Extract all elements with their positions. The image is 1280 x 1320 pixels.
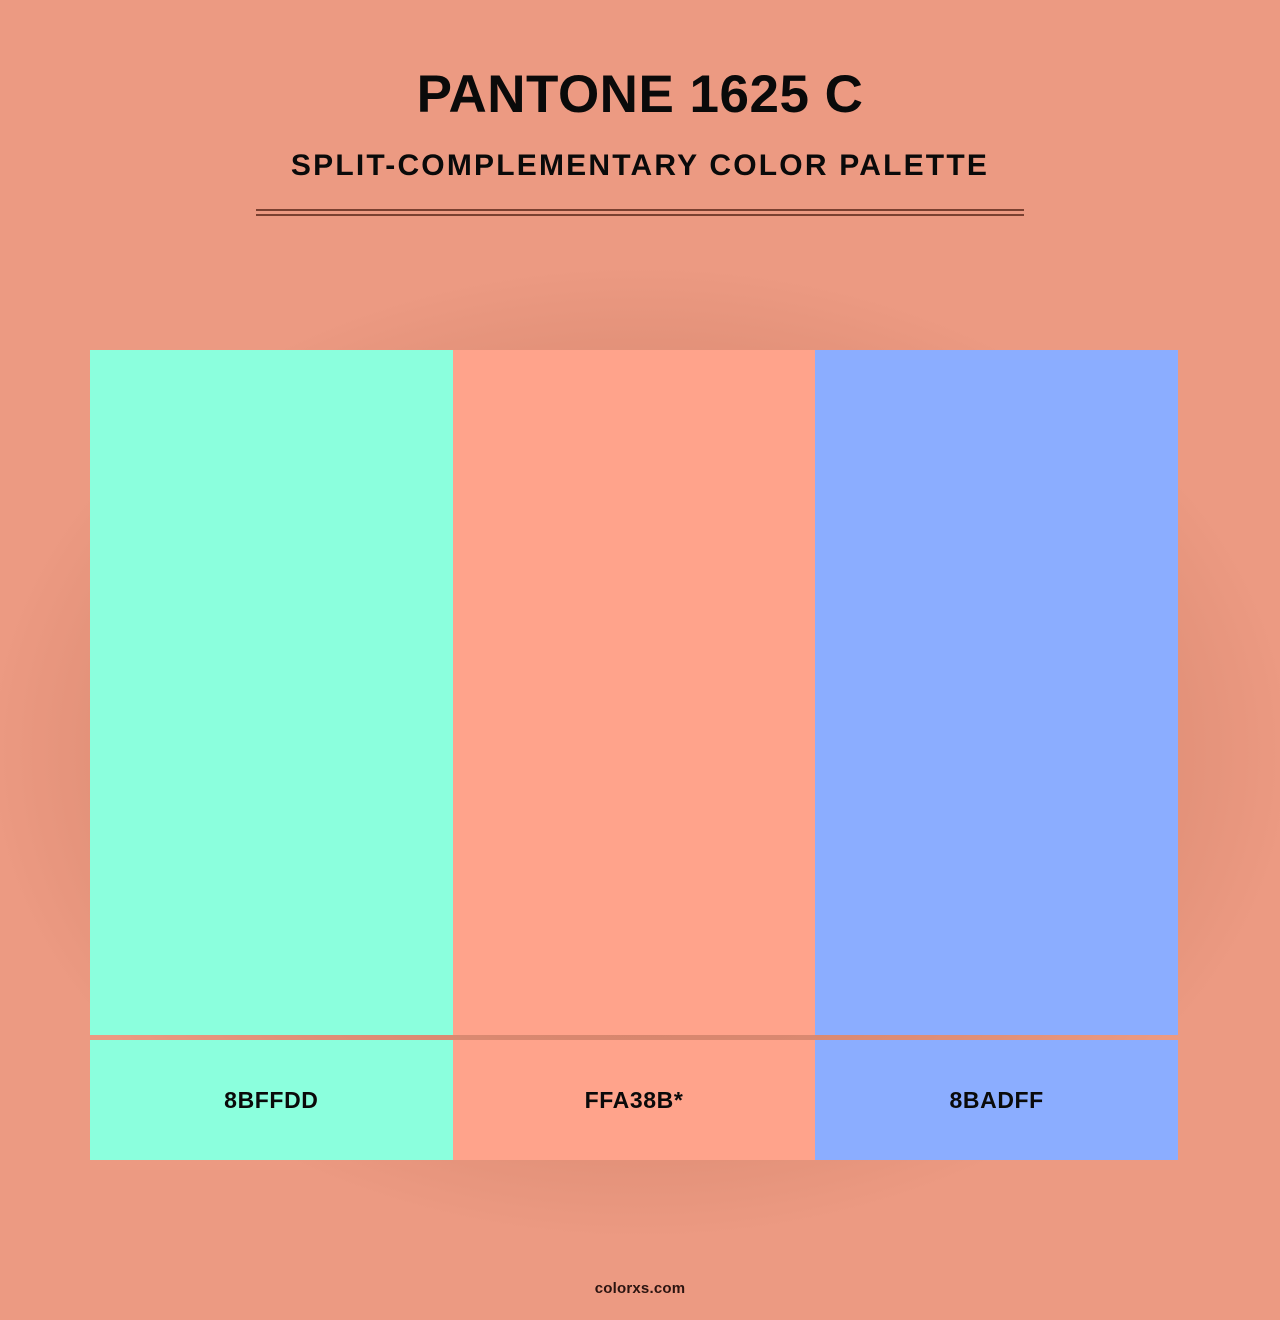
swatch-hex-label: 8BADFF <box>950 1087 1044 1114</box>
page-title: PANTONE 1625 C <box>0 66 1280 123</box>
swatch-column[interactable]: 8BFFDD <box>90 350 453 1160</box>
swatch-color-area[interactable] <box>815 350 1178 1035</box>
header-divider <box>256 209 1024 216</box>
swatch-label-band[interactable]: FFA38B* <box>453 1040 816 1160</box>
color-palette-block: 8BFFDD FFA38B* 8BADFF <box>90 350 1178 1160</box>
page-header: PANTONE 1625 C SPLIT-COMPLEMENTARY COLOR… <box>0 0 1280 216</box>
swatch-label-band[interactable]: 8BFFDD <box>90 1040 453 1160</box>
swatch-color-area[interactable] <box>90 350 453 1035</box>
page-footer: colorxs.com <box>0 1280 1280 1298</box>
swatch-label-band[interactable]: 8BADFF <box>815 1040 1178 1160</box>
swatch-column[interactable]: 8BADFF <box>815 350 1178 1160</box>
site-credit: colorxs.com <box>595 1280 686 1297</box>
swatch-hex-label: FFA38B* <box>585 1087 684 1114</box>
swatch-hex-label: 8BFFDD <box>224 1087 318 1114</box>
swatch-color-area[interactable] <box>453 350 816 1035</box>
palette-page: PANTONE 1625 C SPLIT-COMPLEMENTARY COLOR… <box>0 0 1280 1320</box>
swatch-column[interactable]: FFA38B* <box>453 350 816 1160</box>
page-subtitle: SPLIT-COMPLEMENTARY COLOR PALETTE <box>0 149 1280 183</box>
